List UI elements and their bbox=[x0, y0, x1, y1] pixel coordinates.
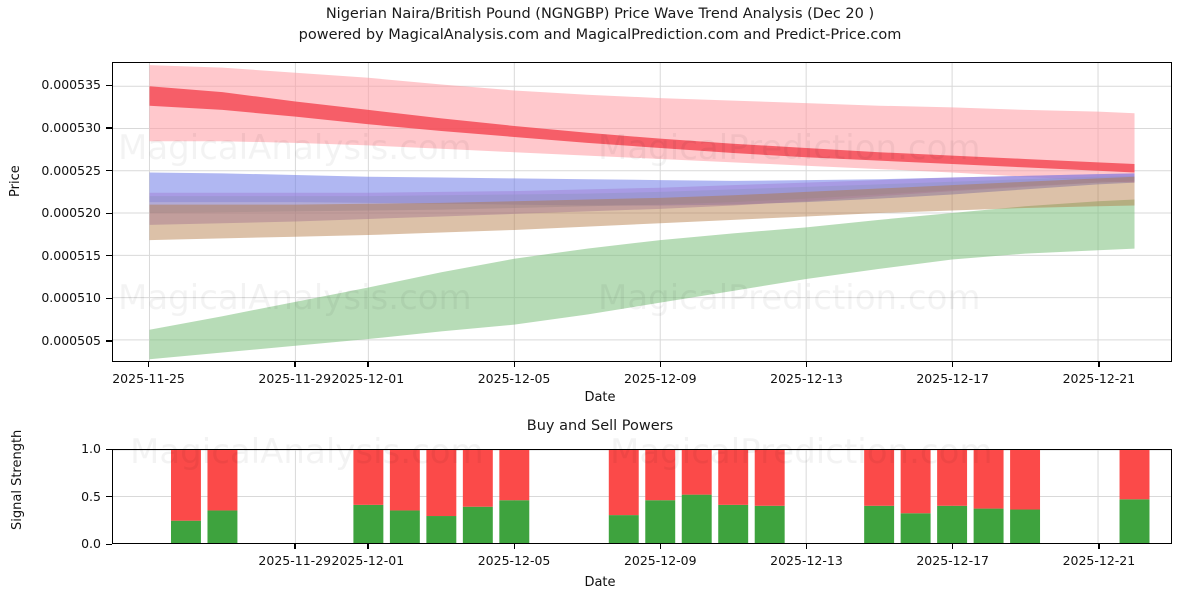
price-x-tick-label: 2025-11-25 bbox=[94, 371, 204, 386]
price-y-tick-label: 0.000535 bbox=[0, 77, 101, 92]
price-x-tick-label: 2025-12-01 bbox=[313, 371, 423, 386]
price-y-tick-label: 0.000530 bbox=[0, 120, 101, 135]
price-x-tick bbox=[294, 362, 295, 367]
signal-bar-sell[interactable] bbox=[207, 450, 237, 510]
price-x-tick bbox=[806, 362, 807, 367]
signal-bar-buy[interactable] bbox=[974, 509, 1004, 543]
signal-bar-buy[interactable] bbox=[390, 510, 420, 543]
signal-bar-buy[interactable] bbox=[718, 505, 748, 543]
signal-x-tick bbox=[660, 544, 661, 549]
signal-bar-buy[interactable] bbox=[645, 500, 675, 543]
signal-x-tick bbox=[294, 544, 295, 549]
signal-bar-sell[interactable] bbox=[1120, 450, 1150, 499]
signal-chart-title: Buy and Sell Powers bbox=[0, 418, 1200, 434]
price-x-tick-label: 2025-12-21 bbox=[1044, 371, 1154, 386]
price-y-tick-label: 0.000520 bbox=[0, 205, 101, 220]
signal-y-tick bbox=[106, 496, 112, 497]
price-y-tick-label: 0.000515 bbox=[0, 248, 101, 263]
signal-x-tick-label: 2025-12-05 bbox=[459, 553, 569, 568]
signal-y-tick bbox=[106, 544, 112, 545]
signal-y-tick-label: 1.0 bbox=[0, 441, 101, 456]
signal-bar-buy[interactable] bbox=[1010, 510, 1040, 543]
price-x-tick bbox=[367, 362, 368, 367]
signal-bar-buy[interactable] bbox=[1120, 499, 1150, 543]
signal-bar-buy[interactable] bbox=[755, 506, 785, 543]
signal-bar-sell[interactable] bbox=[974, 450, 1004, 509]
price-y-tick-label: 0.000510 bbox=[0, 290, 101, 305]
signal-x-tick bbox=[952, 544, 953, 549]
signal-axis-label-x: Date bbox=[0, 575, 1200, 590]
price-y-tick bbox=[106, 85, 112, 86]
signal-bar-buy[interactable] bbox=[901, 513, 931, 543]
signal-bar-buy[interactable] bbox=[682, 495, 712, 543]
price-x-tick bbox=[660, 362, 661, 367]
signal-bar-sell[interactable] bbox=[463, 450, 493, 507]
title-line-1: Nigerian Naira/British Pound (NGNGBP) Pr… bbox=[0, 4, 1200, 25]
price-y-tick bbox=[106, 255, 112, 256]
signal-x-tick-label: 2025-12-01 bbox=[313, 553, 423, 568]
signal-bar-sell[interactable] bbox=[937, 450, 967, 506]
price-x-tick-label: 2025-12-09 bbox=[605, 371, 715, 386]
signal-bar-sell[interactable] bbox=[718, 450, 748, 505]
price-x-tick bbox=[952, 362, 953, 367]
signal-y-tick-label: 0.0 bbox=[0, 536, 101, 551]
signal-bar-buy[interactable] bbox=[426, 516, 456, 543]
signal-y-tick bbox=[106, 449, 112, 450]
price-axis-label-x: Date bbox=[0, 390, 1200, 405]
signal-bar-buy[interactable] bbox=[864, 506, 894, 543]
signal-bar-sell[interactable] bbox=[499, 450, 529, 500]
price-y-tick-label: 0.000525 bbox=[0, 163, 101, 178]
signal-x-tick-label: 2025-12-09 bbox=[605, 553, 715, 568]
price-y-tick bbox=[106, 127, 112, 128]
signal-bar-sell[interactable] bbox=[755, 450, 785, 506]
price-x-tick-label: 2025-12-05 bbox=[459, 371, 569, 386]
signal-bar-sell[interactable] bbox=[682, 450, 712, 495]
signal-y-tick-label: 0.5 bbox=[0, 489, 101, 504]
price-x-tick bbox=[1098, 362, 1099, 367]
signal-x-tick bbox=[514, 544, 515, 549]
signal-x-tick bbox=[806, 544, 807, 549]
price-x-tick bbox=[148, 362, 149, 367]
price-chart-plot-area bbox=[112, 62, 1172, 362]
price-x-tick-label: 2025-12-13 bbox=[751, 371, 861, 386]
signal-chart-plot-area bbox=[112, 449, 1172, 544]
signal-bar-sell[interactable] bbox=[1010, 450, 1040, 510]
signal-bar-sell[interactable] bbox=[390, 450, 420, 510]
signal-bar-buy[interactable] bbox=[463, 507, 493, 543]
signal-chart-svg bbox=[113, 450, 1171, 543]
signal-bar-buy[interactable] bbox=[171, 521, 201, 543]
price-x-tick bbox=[514, 362, 515, 367]
signal-bar-buy[interactable] bbox=[353, 505, 383, 543]
signal-x-tick-label: 2025-12-17 bbox=[898, 553, 1008, 568]
price-y-tick bbox=[106, 340, 112, 341]
signal-bar-sell[interactable] bbox=[901, 450, 931, 513]
signal-bar-sell[interactable] bbox=[171, 450, 201, 521]
signal-bar-sell[interactable] bbox=[645, 450, 675, 500]
price-y-tick bbox=[106, 298, 112, 299]
price-x-tick-label: 2025-12-17 bbox=[898, 371, 1008, 386]
signal-bar-sell[interactable] bbox=[864, 450, 894, 506]
signal-bar-buy[interactable] bbox=[207, 510, 237, 543]
chart-page: Nigerian Naira/British Pound (NGNGBP) Pr… bbox=[0, 0, 1200, 600]
price-y-tick bbox=[106, 170, 112, 171]
signal-x-tick-label: 2025-12-21 bbox=[1044, 553, 1154, 568]
signal-bar-buy[interactable] bbox=[937, 506, 967, 543]
signal-bar-sell[interactable] bbox=[426, 450, 456, 516]
signal-bar-buy[interactable] bbox=[499, 500, 529, 543]
signal-bar-sell[interactable] bbox=[353, 450, 383, 505]
signal-x-tick-label: 2025-12-13 bbox=[751, 553, 861, 568]
title-line-2: powered by MagicalAnalysis.com and Magic… bbox=[0, 25, 1200, 46]
price-chart-svg bbox=[113, 63, 1171, 361]
price-y-tick-label: 0.000505 bbox=[0, 333, 101, 348]
signal-x-tick bbox=[1098, 544, 1099, 549]
price-y-tick bbox=[106, 213, 112, 214]
page-title: Nigerian Naira/British Pound (NGNGBP) Pr… bbox=[0, 4, 1200, 46]
signal-bar-buy[interactable] bbox=[609, 515, 639, 543]
signal-bar-sell[interactable] bbox=[609, 450, 639, 515]
signal-x-tick bbox=[367, 544, 368, 549]
